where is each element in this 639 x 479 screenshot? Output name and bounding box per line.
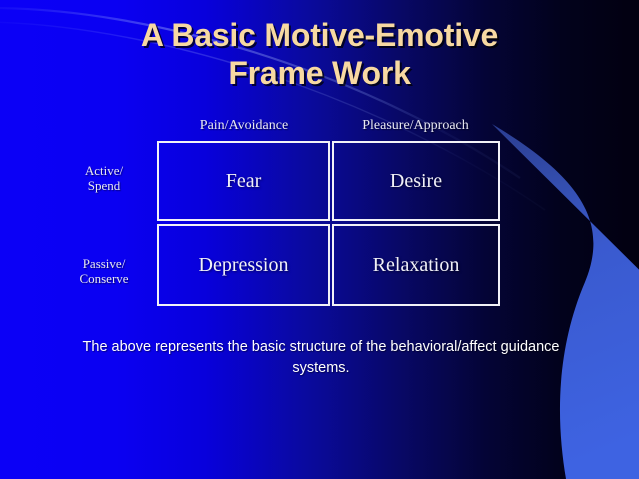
matrix-cell-fear: Fear [157, 141, 330, 221]
column-header-pain-avoidance: Pain/Avoidance [157, 118, 331, 134]
matrix-cell-depression: Depression [157, 224, 330, 306]
column-header-pleasure-approach: Pleasure/Approach [331, 118, 500, 134]
motive-emotive-matrix: Pain/Avoidance Pleasure/Approach Active/… [0, 0, 639, 479]
matrix-cell-desire: Desire [332, 141, 500, 221]
slide-caption: The above represents the basic structure… [78, 337, 564, 378]
presentation-slide: A Basic Motive-Emotive Frame Work Pain/A… [0, 0, 639, 479]
row-header-passive-conserve: Passive/ Conserve [58, 256, 150, 287]
matrix-cell-relaxation: Relaxation [332, 224, 500, 306]
row-header-active-spend: Active/ Spend [58, 163, 150, 194]
